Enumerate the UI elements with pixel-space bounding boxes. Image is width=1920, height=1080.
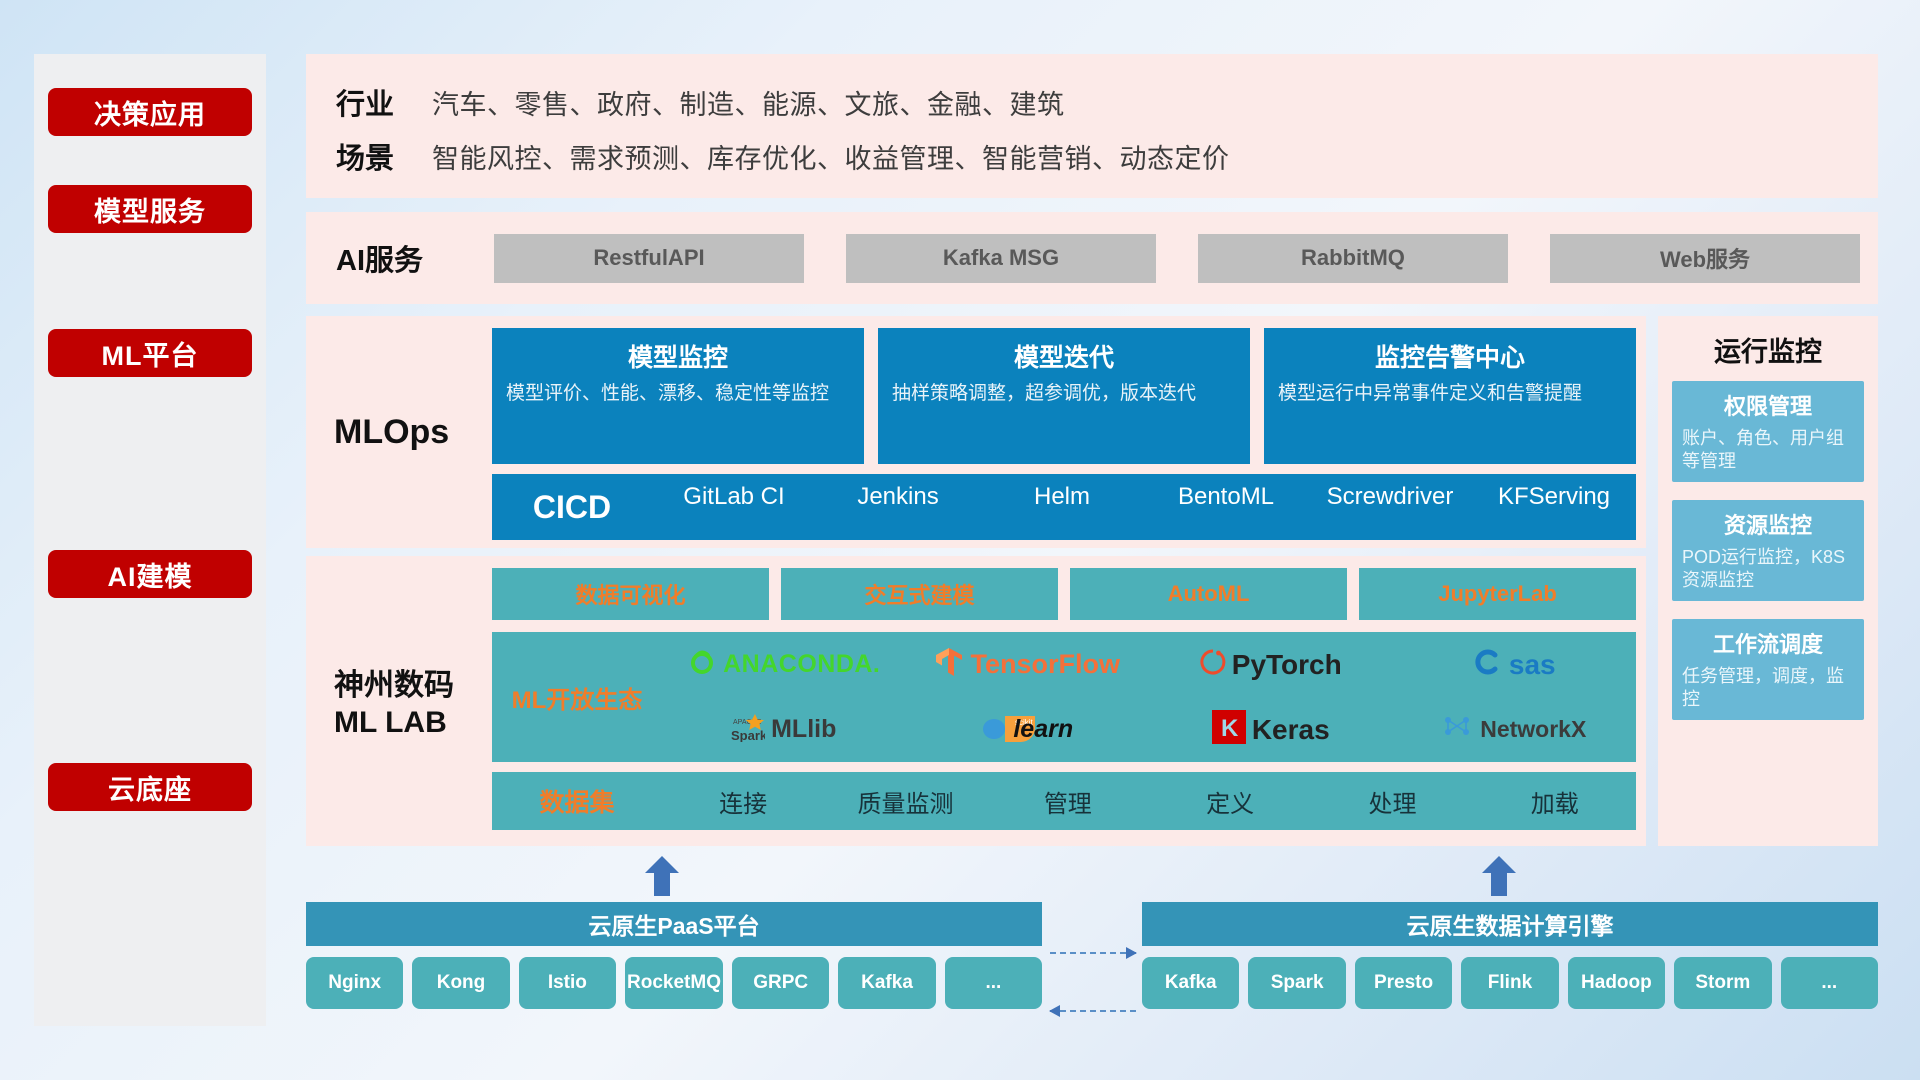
dataset-bar: 数据集 连接 质量监测 管理 定义 处理 加载 bbox=[492, 772, 1636, 830]
dataset-item-define[interactable]: 定义 bbox=[1149, 784, 1311, 819]
dataset-item-quality[interactable]: 质量监测 bbox=[824, 784, 986, 819]
service-chip-kafka-msg[interactable]: Kafka MSG bbox=[846, 234, 1156, 283]
service-chip-web-service[interactable]: Web服务 bbox=[1550, 234, 1860, 283]
card-desc: 账户、角色、用户组等管理 bbox=[1682, 427, 1854, 472]
anaconda-icon bbox=[687, 647, 717, 682]
rail-label: AI建模 bbox=[108, 555, 193, 594]
paas-chip-nginx[interactable]: Nginx bbox=[306, 957, 403, 1009]
dashed-arrow-left bbox=[1050, 1010, 1136, 1012]
logo-networkx: NetworkX bbox=[1442, 712, 1586, 747]
engine-chip-kafka[interactable]: Kafka bbox=[1142, 957, 1239, 1009]
rail-item-decision-app[interactable]: 决策应用 bbox=[48, 88, 252, 136]
dashed-arrow-right bbox=[1050, 952, 1136, 954]
lab-tab-interactive-modeling[interactable]: 交互式建模 bbox=[781, 568, 1058, 620]
mlops-band: MLOps 模型监控 模型评价、性能、漂移、稳定性等监控 模型迭代 抽样策略调整… bbox=[306, 316, 1646, 548]
svg-text:K: K bbox=[1221, 715, 1239, 742]
cicd-item-gitlab-ci[interactable]: GitLab CI bbox=[652, 484, 816, 510]
logo-label: MLlib bbox=[771, 715, 836, 744]
card-desc: 模型运行中异常事件定义和告警提醒 bbox=[1278, 382, 1622, 406]
ml-lab-label-line: ML LAB bbox=[334, 705, 506, 742]
ai-service-chip-list: RestfulAPI Kafka MSG RabbitMQ Web服务 bbox=[494, 212, 1860, 304]
ml-ecosystem-panel: ML开放生态 ANACONDA. TensorFlow bbox=[492, 632, 1636, 762]
engine-chip-presto[interactable]: Presto bbox=[1355, 957, 1452, 1009]
engine-chip-spark[interactable]: Spark bbox=[1248, 957, 1345, 1009]
mlops-card-model-monitoring[interactable]: 模型监控 模型评价、性能、漂移、稳定性等监控 bbox=[492, 328, 864, 464]
networkx-icon bbox=[1442, 712, 1474, 747]
rail-label: 模型服务 bbox=[94, 190, 206, 229]
upward-arrow-paas bbox=[645, 856, 679, 896]
engine-chip-storm[interactable]: Storm bbox=[1674, 957, 1771, 1009]
card-desc: 任务管理，调度，监控 bbox=[1682, 665, 1854, 710]
paas-chip-list: Nginx Kong Istio RocketMQ GRPC Kafka ... bbox=[306, 946, 1042, 1009]
cloud-native-data-engine-column: 云原生数据计算引擎 Kafka Spark Presto Flink Hadoo… bbox=[1142, 902, 1878, 1009]
industry-label: 行业 bbox=[306, 81, 432, 123]
paas-chip-istio[interactable]: Istio bbox=[519, 957, 616, 1009]
scenario-row: 场景 智能风控、需求预测、库存优化、收益管理、智能营销、动态定价 bbox=[306, 130, 1878, 182]
rail-label: 决策应用 bbox=[94, 93, 206, 132]
logo-spark-mllib: APACHESpark MLlib bbox=[731, 712, 836, 747]
cicd-item-kfserving[interactable]: KFServing bbox=[1472, 484, 1636, 510]
monitoring-card-workflow[interactable]: 工作流调度 任务管理，调度，监控 bbox=[1672, 619, 1864, 720]
tensorflow-icon bbox=[934, 646, 964, 683]
mlops-card-alert-center[interactable]: 监控告警中心 模型运行中异常事件定义和告警提醒 bbox=[1264, 328, 1636, 464]
monitoring-title: 运行监控 bbox=[1658, 316, 1878, 381]
card-desc: POD运行监控，K8S资源监控 bbox=[1682, 546, 1854, 591]
cicd-title: CICD bbox=[492, 489, 652, 526]
ml-lab-tab-list: 数据可视化 交互式建模 AutoML JupyterLab bbox=[492, 568, 1636, 620]
dataset-item-process[interactable]: 处理 bbox=[1311, 784, 1473, 819]
logo-label: ANACONDA. bbox=[723, 650, 880, 679]
spark-icon: APACHESpark bbox=[731, 712, 765, 747]
ml-lab-label: 神州数码ML LAB bbox=[334, 556, 506, 846]
logo-label: Keras bbox=[1252, 714, 1330, 746]
scenario-label: 场景 bbox=[306, 135, 432, 177]
engine-title: 云原生数据计算引擎 bbox=[1142, 902, 1878, 946]
logo-label: TensorFlow bbox=[970, 649, 1120, 680]
lab-tab-automl[interactable]: AutoML bbox=[1070, 568, 1347, 620]
lab-tab-jupyterlab[interactable]: JupyterLab bbox=[1359, 568, 1636, 620]
service-chip-rabbitmq[interactable]: RabbitMQ bbox=[1198, 234, 1508, 283]
upward-arrow-engine bbox=[1482, 856, 1516, 896]
engine-chip-hadoop[interactable]: Hadoop bbox=[1568, 957, 1665, 1009]
dataset-item-manage[interactable]: 管理 bbox=[987, 784, 1149, 819]
rail-item-ai-modeling[interactable]: AI建模 bbox=[48, 550, 252, 598]
rail-item-model-service[interactable]: 模型服务 bbox=[48, 185, 252, 233]
cicd-item-bentoml[interactable]: BentoML bbox=[1144, 484, 1308, 510]
cicd-item-helm[interactable]: Helm bbox=[980, 484, 1144, 510]
cloud-native-paas-column: 云原生PaaS平台 Nginx Kong Istio RocketMQ GRPC… bbox=[306, 902, 1042, 1009]
keras-icon: K bbox=[1212, 710, 1246, 749]
engine-chip-flink[interactable]: Flink bbox=[1461, 957, 1558, 1009]
logo-sas: sas bbox=[1473, 648, 1556, 681]
lab-tab-data-visualization[interactable]: 数据可视化 bbox=[492, 568, 769, 620]
logo-label: learn bbox=[1013, 715, 1073, 744]
dataset-title: 数据集 bbox=[492, 783, 662, 819]
cicd-item-list: GitLab CI Jenkins Helm BentoML Screwdriv… bbox=[652, 474, 1636, 540]
pytorch-icon bbox=[1200, 647, 1226, 682]
card-title: 模型监控 bbox=[506, 338, 850, 374]
mlops-card-list: 模型监控 模型评价、性能、漂移、稳定性等监控 模型迭代 抽样策略调整，超参调优，… bbox=[492, 328, 1636, 464]
monitoring-card-permission[interactable]: 权限管理 账户、角色、用户组等管理 bbox=[1672, 381, 1864, 482]
logo-scikit-learn: scikit learn bbox=[981, 710, 1073, 749]
paas-chip-kafka[interactable]: Kafka bbox=[838, 957, 935, 1009]
mlops-card-model-iteration[interactable]: 模型迭代 抽样策略调整，超参调优，版本迭代 bbox=[878, 328, 1250, 464]
ml-ecosystem-logo-grid: ANACONDA. TensorFlow PyTorch bbox=[662, 632, 1636, 762]
card-title: 工作流调度 bbox=[1682, 627, 1854, 659]
rail-label: 云底座 bbox=[108, 768, 192, 807]
architecture-diagram: 决策应用 模型服务 ML平台 AI建模 云底座 行业 汽车、零售、政府、制造、能… bbox=[0, 0, 1920, 1080]
cicd-item-screwdriver[interactable]: Screwdriver bbox=[1308, 484, 1472, 510]
dataset-item-connect[interactable]: 连接 bbox=[662, 784, 824, 819]
card-title: 权限管理 bbox=[1682, 389, 1854, 421]
paas-title: 云原生PaaS平台 bbox=[306, 902, 1042, 946]
paas-chip-rocketmq[interactable]: RocketMQ bbox=[625, 957, 723, 1009]
ai-service-band: AI服务 RestfulAPI Kafka MSG RabbitMQ Web服务 bbox=[306, 212, 1878, 304]
card-desc: 模型评价、性能、漂移、稳定性等监控 bbox=[506, 382, 850, 406]
scenario-value: 智能风控、需求预测、库存优化、收益管理、智能营销、动态定价 bbox=[432, 137, 1230, 176]
card-desc: 抽样策略调整，超参调优，版本迭代 bbox=[892, 382, 1236, 406]
card-title: 监控告警中心 bbox=[1278, 338, 1622, 374]
paas-chip-more[interactable]: ... bbox=[945, 957, 1042, 1009]
ai-service-label: AI服务 bbox=[336, 212, 486, 304]
paas-chip-kong[interactable]: Kong bbox=[412, 957, 509, 1009]
runtime-monitoring-panel: 运行监控 权限管理 账户、角色、用户组等管理 资源监控 POD运行监控，K8S资… bbox=[1658, 316, 1878, 846]
svg-text:Spark: Spark bbox=[731, 728, 765, 742]
industry-value: 汽车、零售、政府、制造、能源、文旅、金融、建筑 bbox=[432, 83, 1065, 122]
mlops-label: MLOps bbox=[334, 316, 504, 548]
dataset-item-load[interactable]: 加载 bbox=[1474, 784, 1636, 819]
industry-row: 行业 汽车、零售、政府、制造、能源、文旅、金融、建筑 bbox=[306, 76, 1878, 128]
engine-chip-list: Kafka Spark Presto Flink Hadoop Storm ..… bbox=[1142, 946, 1878, 1009]
cicd-item-jenkins[interactable]: Jenkins bbox=[816, 484, 980, 510]
sas-icon bbox=[1473, 648, 1503, 681]
paas-chip-grpc[interactable]: GRPC bbox=[732, 957, 829, 1009]
logo-anaconda: ANACONDA. bbox=[687, 647, 880, 682]
card-title: 模型迭代 bbox=[892, 338, 1236, 374]
logo-label: PyTorch bbox=[1232, 649, 1342, 681]
cicd-bar: CICD GitLab CI Jenkins Helm BentoML Scre… bbox=[492, 474, 1636, 540]
layer-rail: 决策应用 模型服务 ML平台 AI建模 云底座 bbox=[34, 54, 266, 1026]
monitoring-card-resource[interactable]: 资源监控 POD运行监控，K8S资源监控 bbox=[1672, 500, 1864, 601]
rail-label: ML平台 bbox=[102, 334, 199, 373]
ml-lab-label-line: 神州数码 bbox=[334, 668, 506, 705]
ml-lab-band: 神州数码ML LAB 数据可视化 交互式建模 AutoML JupyterLab… bbox=[306, 556, 1646, 846]
rail-item-cloud-base[interactable]: 云底座 bbox=[48, 763, 252, 811]
logo-keras: K Keras bbox=[1212, 710, 1330, 749]
engine-chip-more[interactable]: ... bbox=[1781, 957, 1878, 1009]
rail-item-ml-platform[interactable]: ML平台 bbox=[48, 329, 252, 377]
service-chip-restfulapi[interactable]: RestfulAPI bbox=[494, 234, 804, 283]
ml-ecosystem-label: ML开放生态 bbox=[492, 680, 662, 715]
logo-tensorflow: TensorFlow bbox=[934, 646, 1120, 683]
card-title: 资源监控 bbox=[1682, 508, 1854, 540]
logo-label: NetworkX bbox=[1480, 716, 1586, 743]
logo-label: sas bbox=[1509, 649, 1556, 681]
logo-pytorch: PyTorch bbox=[1200, 647, 1342, 682]
application-band: 行业 汽车、零售、政府、制造、能源、文旅、金融、建筑 场景 智能风控、需求预测、… bbox=[306, 54, 1878, 198]
